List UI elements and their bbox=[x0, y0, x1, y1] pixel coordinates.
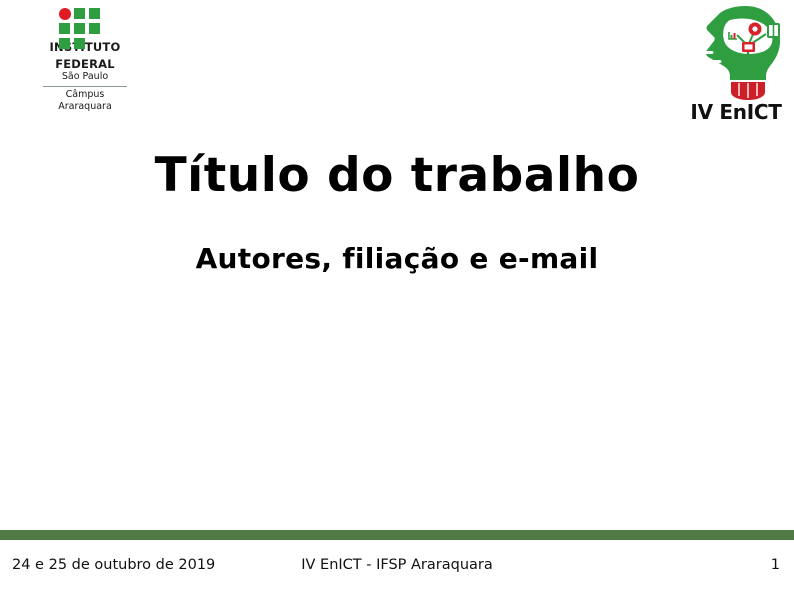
title-block: Título do trabalho Autores, filiação e e… bbox=[0, 148, 794, 276]
enict-logo: IV EnICT bbox=[684, 4, 788, 126]
page-title: Título do trabalho bbox=[0, 148, 794, 204]
ifsp-state-label: São Paulo bbox=[62, 71, 108, 83]
ifsp-divider bbox=[43, 86, 127, 87]
enict-book-icon bbox=[768, 24, 779, 37]
enict-monitor-icon bbox=[742, 42, 755, 52]
footer: 24 e 25 de outubro de 2019 IV EnICT - IF… bbox=[0, 555, 794, 583]
page-subtitle: Autores, filiação e e-mail bbox=[0, 242, 794, 276]
ifsp-name-line-2: FEDERAL bbox=[55, 59, 115, 71]
ifsp-campus-label: Câmpus bbox=[66, 89, 105, 101]
enict-gear-icon bbox=[749, 23, 762, 36]
ifsp-grid-mark-icon bbox=[59, 8, 111, 37]
footer-event-label: IV EnICT - IFSP Araraquara bbox=[0, 555, 794, 575]
footer-page-number: 1 bbox=[771, 555, 780, 575]
ifsp-campus-name: Araraquara bbox=[58, 101, 112, 113]
ifsp-logo: INSTITUTO FEDERAL São Paulo Câmpus Arara… bbox=[30, 4, 140, 112]
enict-head-bulb-icon bbox=[684, 4, 788, 100]
enict-wordmark: IV EnICT bbox=[684, 100, 788, 124]
footer-rule bbox=[0, 530, 794, 540]
